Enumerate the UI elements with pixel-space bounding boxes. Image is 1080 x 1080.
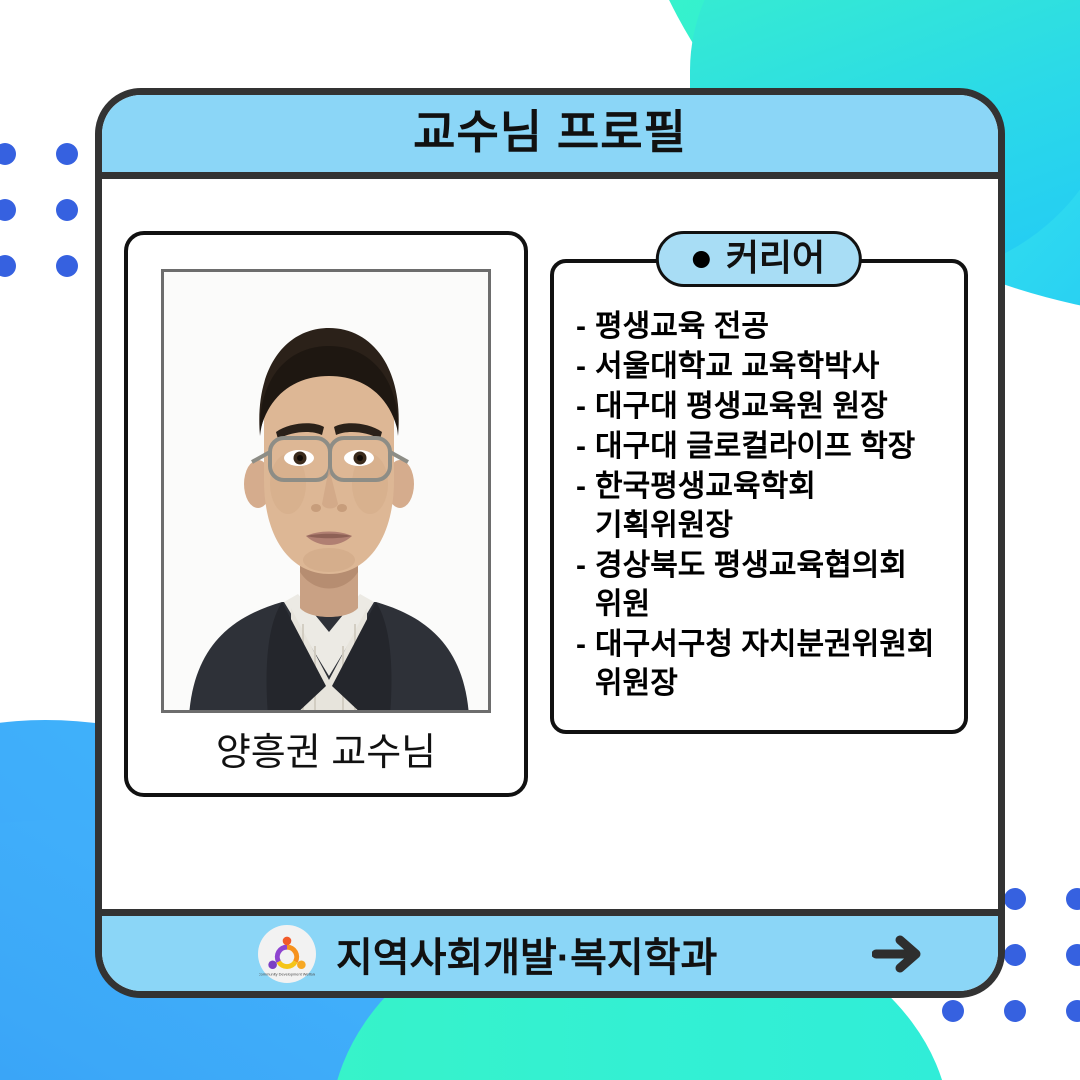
dot [1004,888,1026,910]
dot [0,255,16,277]
community-development-welfare-logo-icon: Community Development Welfare [259,926,315,982]
page-title: 교수님 프로필 [413,109,687,159]
career-item: -대구대 글로컬라이프 학장 [576,427,952,466]
card-footer: Community Development Welfare 지역사회개발·복지학… [102,909,998,991]
card-body: 양흥권 교수님 커리어 -평생교육 전공-서울대학교 교육학박사-대구대 평생교… [102,179,998,909]
career-item-label: 평생교육 전공 [595,307,769,346]
career-item-marker: - [576,387,586,426]
dot [942,1000,964,1022]
career-item: -대구서구청 자치분권위원회 위원장 [576,625,952,703]
career-item: -서울대학교 교육학박사 [576,347,952,386]
career-item: -한국평생교육학회 기획위원장 [576,467,952,545]
dot [0,143,16,165]
dot [56,143,78,165]
dot [1066,944,1080,966]
career-item-marker: - [576,307,586,346]
logo-caption: Community Development Welfare [259,971,315,976]
career-item: -경상북도 평생교육협의회 위원 [576,546,952,624]
career-badge-label: 커리어 [726,240,825,279]
dot [1066,1000,1080,1022]
career-item-label: 대구대 평생교육원 원장 [595,387,888,426]
arrow-right-icon[interactable] [872,932,924,976]
poster-canvas: 교수님 프로필 [0,0,1080,1080]
dot [0,199,16,221]
dot [56,255,78,277]
dot [1004,1000,1026,1022]
department-name: 지역사회개발·복지학과 [336,925,717,983]
professor-name: 양흥권 교수님 [216,733,436,775]
career-item-label: 대구서구청 자치분권위원회 위원장 [595,625,935,703]
dot [56,199,78,221]
career-item-label: 경상북도 평생교육협의회 위원 [595,546,907,624]
career-item-label: 한국평생교육학회 기획위원장 [595,467,816,545]
career-list: -평생교육 전공-서울대학교 교육학박사-대구대 평생교육원 원장-대구대 글로… [576,307,952,703]
career-box: -평생교육 전공-서울대학교 교육학박사-대구대 평생교육원 원장-대구대 글로… [550,259,968,734]
career-item-marker: - [576,625,586,703]
profile-card: 교수님 프로필 [95,88,1005,998]
career-item: -대구대 평생교육원 원장 [576,387,952,426]
career-item-marker: - [576,347,586,386]
portrait-illustration [164,272,491,713]
department-logo: Community Development Welfare [258,925,316,983]
card-header: 교수님 프로필 [102,95,998,179]
photo-panel: 양흥권 교수님 [124,231,528,797]
career-panel: 커리어 -평생교육 전공-서울대학교 교육학박사-대구대 평생교육원 원장-대구… [550,231,968,734]
career-item-label: 서울대학교 교육학박사 [595,347,879,386]
dot [1066,888,1080,910]
bullet-icon [693,251,710,268]
career-badge: 커리어 [656,231,862,287]
career-item-marker: - [576,546,586,624]
career-item-marker: - [576,427,586,466]
career-item: -평생교육 전공 [576,307,952,346]
career-item-marker: - [576,467,586,545]
professor-photo [161,269,491,713]
dot [1004,944,1026,966]
career-item-label: 대구대 글로컬라이프 학장 [595,427,915,466]
